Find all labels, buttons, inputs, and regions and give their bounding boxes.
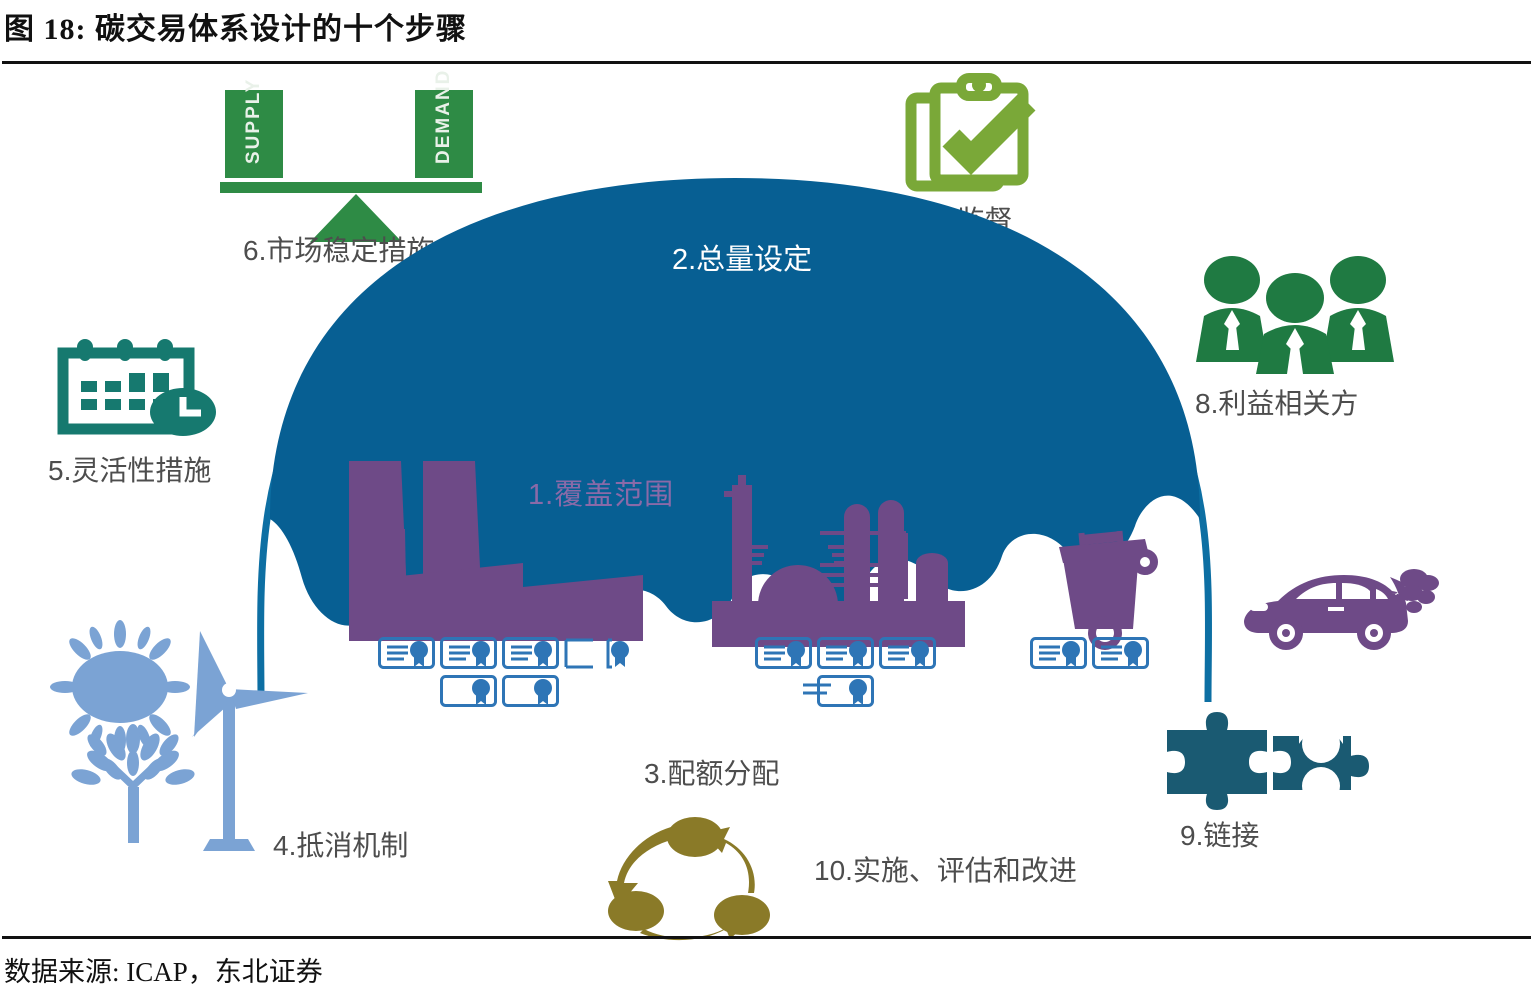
figure-page: 图 18: 碳交易体系设计的十个步骤 SUPPLY DEMAND 6.市场稳定措… [0,0,1533,1001]
renewables-icon [50,619,310,849]
step-9-label: 9.链接 [1180,814,1259,854]
figure-header: 图 18: 碳交易体系设计的十个步骤 [0,0,1533,62]
step-5-label: 5.灵活性措施 [48,449,211,489]
certificate-group-right [1030,637,1140,672]
certificate-group-left [378,637,628,707]
step-3-label: 3.配额分配 [644,752,779,792]
diagram-canvas: SUPPLY DEMAND 6.市场稳定措施 [0,64,1533,936]
cycle-arrows-icon [610,819,775,939]
page-title: 图 18: 碳交易体系设计的十个步骤 [4,4,467,48]
puzzle-pieces-icon [1155,704,1365,814]
footer-divider [2,936,1531,939]
step-4-label: 4.抵消机制 [273,824,408,864]
step-2-label: 2.总量设定 [672,236,812,278]
source-note: 数据来源: ICAP，东北证券 [4,950,323,989]
step-10-label: 10.实施、评估和改进 [814,849,1077,889]
demand-block: DEMAND [415,90,473,178]
trash-bin-icon [1045,529,1165,644]
refinery-icon [710,469,975,644]
supply-label: SUPPLY [243,106,265,164]
certificate-group-center [755,637,945,707]
step-1-label: 1.覆盖范围 [528,471,674,513]
demand-label: DEMAND [433,106,455,164]
supply-block: SUPPLY [225,90,283,178]
car-exhaust-icon [1240,559,1430,654]
calendar-clock-icon [55,339,225,434]
